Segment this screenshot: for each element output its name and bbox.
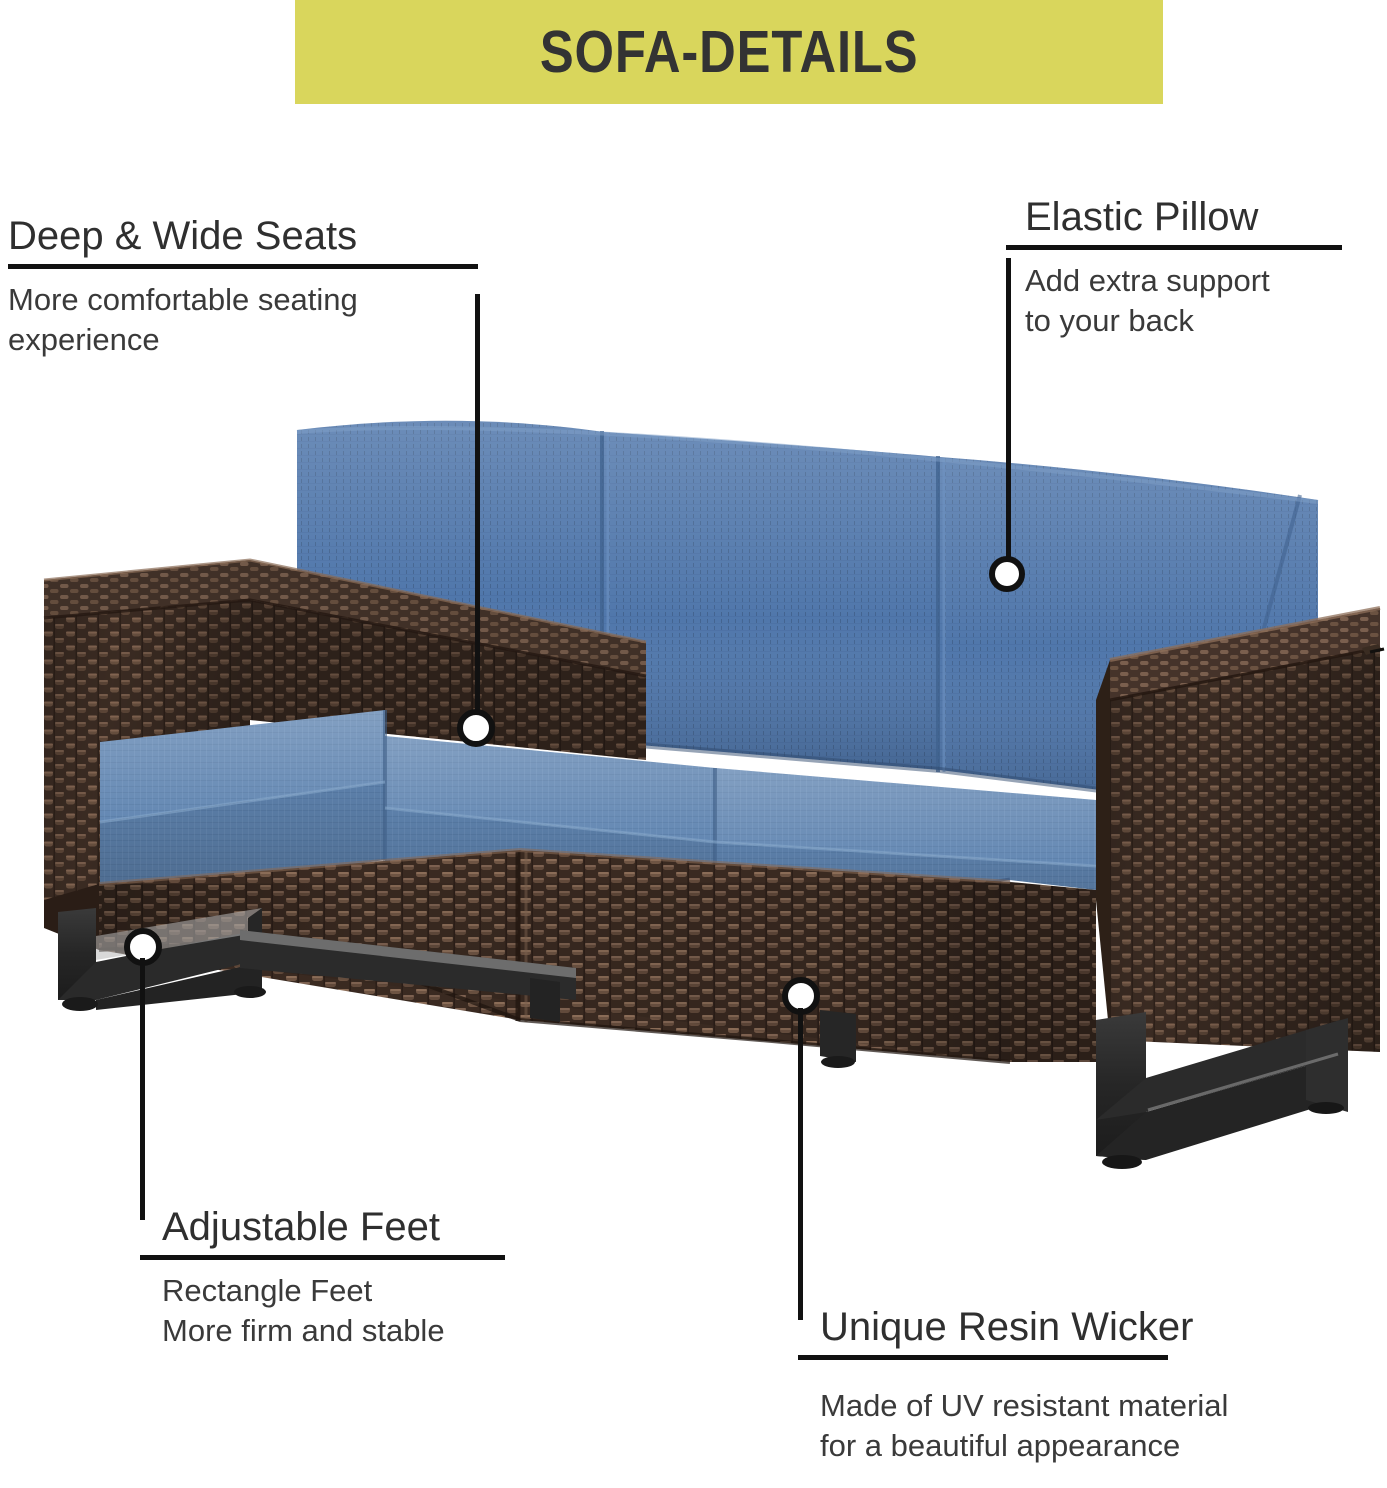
- left-arm: [44, 560, 646, 920]
- foot-left: [58, 908, 576, 1022]
- callout-unique-resin-wicker: Unique Resin Wicker Made of UV resistant…: [820, 1306, 1340, 1465]
- callout-heading: Adjustable Feet: [162, 1206, 552, 1248]
- callout-rule: [8, 264, 478, 269]
- callout-body: More comfortable seating experience: [8, 280, 478, 359]
- title-banner: SOFA-DETAILS: [295, 0, 1163, 104]
- callout-rule: [1006, 245, 1342, 250]
- callout-rule: [140, 1255, 505, 1260]
- back-cushions: [297, 421, 1318, 800]
- foot-middle: [820, 1010, 856, 1068]
- callout-body: Rectangle Feet More firm and stable: [162, 1271, 552, 1350]
- seat-cushions: [100, 710, 1096, 930]
- page-title: SOFA-DETAILS: [540, 18, 919, 86]
- leader-line-elastic-pillow: [1006, 258, 1011, 583]
- foot-right: [1096, 1012, 1348, 1169]
- right-arm: [1010, 608, 1384, 1062]
- product-detail-infographic: SOFA-DETAILS: [0, 0, 1387, 1488]
- leader-line-unique-resin-wicker: [798, 1008, 803, 1320]
- callout-deep-wide-seats: Deep & Wide Seats More comfortable seati…: [8, 215, 478, 359]
- callout-body: Made of UV resistant material for a beau…: [820, 1386, 1340, 1465]
- wicker-base: [44, 850, 1010, 1062]
- leader-dot-deep-wide-seats: [457, 709, 495, 747]
- leader-line-adjustable-feet: [140, 958, 145, 1220]
- callout-body: Add extra support to your back: [1025, 261, 1361, 340]
- callout-rule: [798, 1355, 1168, 1360]
- callout-elastic-pillow: Elastic Pillow Add extra support to your…: [1025, 196, 1361, 340]
- adjustable-feet: [58, 908, 1348, 1169]
- callout-heading: Deep & Wide Seats: [8, 215, 478, 257]
- callout-heading: Unique Resin Wicker: [820, 1306, 1340, 1348]
- callout-adjustable-feet: Adjustable Feet Rectangle Feet More firm…: [162, 1206, 552, 1350]
- callout-heading: Elastic Pillow: [1025, 196, 1361, 238]
- leader-dot-elastic-pillow: [989, 556, 1025, 592]
